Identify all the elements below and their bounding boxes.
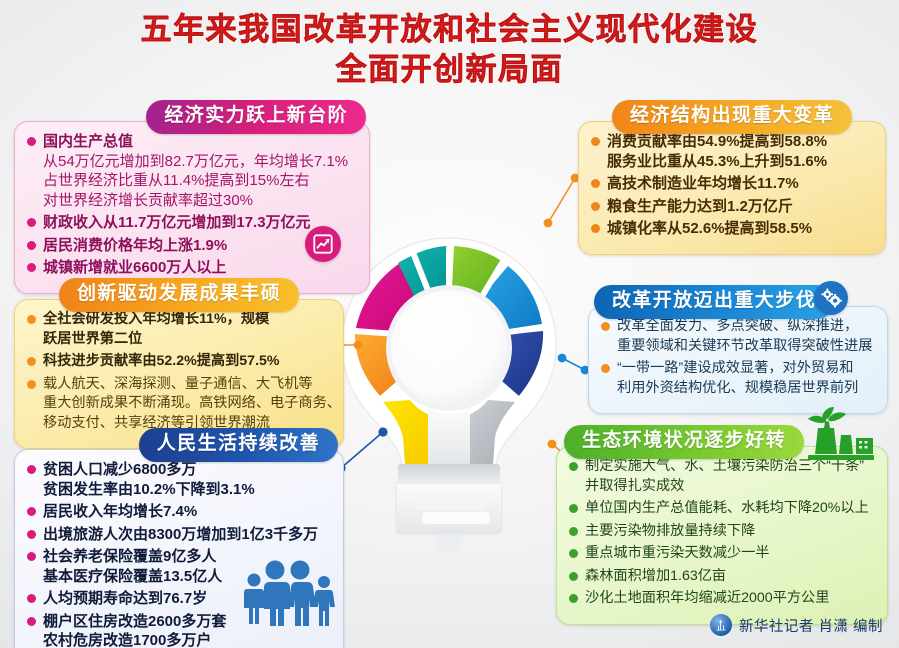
bullet-dot — [591, 179, 600, 188]
bullet-dot — [27, 617, 36, 626]
bulb-inner-core — [391, 290, 507, 406]
list-line: 农村危房改造1700多万户 — [43, 631, 329, 648]
list-line: 财政收入从11.7万亿元增加到17.3万亿元 — [43, 213, 355, 233]
family-glyph — [240, 558, 340, 626]
list-line: 国内生产总值 — [43, 132, 355, 152]
panel-ecology-list: 制定实施大气、水、土壤污染防治三个“十条” 并取得扎实成效 单位国内生产总值能耗… — [569, 457, 873, 609]
list-line: 跃居世界第二位 — [43, 330, 329, 350]
list-line: 重大创新成果不断涌现。高铁网络、电子商务、 — [43, 394, 329, 414]
list-item: 贫困人口减少6800多万 贫困发生率由10.2%下降到3.1% — [27, 460, 329, 499]
list-line: 全社会研发投入年均增长11%，规模 — [43, 310, 329, 330]
list-line: 城镇化率从52.6%提高到58.5% — [607, 219, 871, 239]
trending-chart-icon — [305, 226, 341, 262]
bullet-dot — [27, 594, 36, 603]
list-item: “一带一路”建设成效显著，对外贸易和 利用外资结构优化、规模稳居世界前列 — [601, 359, 873, 398]
bullet-dot — [27, 241, 36, 250]
list-line: 利用外资结构优化、规模稳居世界前列 — [617, 379, 873, 399]
list-item: 单位国内生产总值能耗、水耗均下降20%以上 — [569, 499, 873, 519]
page-title: 五年来我国改革开放和社会主义现代化建设 全面开创新局面 — [0, 10, 899, 90]
bullet-dot — [27, 552, 36, 561]
list-line: 居民收入年均增长7.4% — [43, 502, 329, 522]
list-line: 单位国内生产总值能耗、水耗均下降20%以上 — [585, 499, 873, 519]
panel-reform-title: 改革开放迈出重大步伐 — [594, 285, 834, 319]
list-item: 主要污染物排放量持续下降 — [569, 522, 873, 542]
panel-economy-structure: 经济结构出现重大变革 消费贡献率由54.9%提高到58.8% 服务业比重从45.… — [578, 100, 886, 255]
footer-text: 新华社记者 肖潇 编制 — [739, 615, 883, 636]
list-line: “一带一路”建设成效显著，对外贸易和 — [617, 359, 873, 379]
list-line: 从54万亿元增加到82.7万亿元，年均增长7.1% — [43, 152, 355, 172]
bullet-dot — [569, 462, 578, 471]
infographic-canvas: 五年来我国改革开放和社会主义现代化建设 全面开创新局面 — [0, 0, 899, 648]
list-item: 全社会研发投入年均增长11%，规模 跃居世界第二位 — [27, 310, 329, 349]
list-item: 高技术制造业年均增长11.7% — [591, 174, 871, 194]
panel-peoples-life-header: 人民生活持续改善 — [14, 428, 344, 462]
list-line: 重要领域和关键环节改革取得突破性进展 — [617, 337, 873, 357]
bullet-dot — [27, 507, 36, 516]
list-line: 贫困发生率由10.2%下降到3.1% — [43, 480, 329, 500]
list-line: 森林面积增加1.63亿亩 — [585, 567, 873, 587]
bullet-dot — [569, 549, 578, 558]
list-item: 从54万亿元增加到82.7万亿元，年均增长7.1% 占世界经济比重从11.4%提… — [27, 152, 355, 211]
bullet-dot — [601, 322, 610, 331]
bulb-base-band-2 — [422, 512, 490, 524]
xinhua-glyph — [714, 618, 728, 632]
list-line: 对世界经济增长贡献率超过30% — [43, 191, 355, 211]
list-item: 改革全面发力、多点突破、纵深推进， 重要领域和关键环节改革取得突破性进展 — [601, 317, 873, 356]
panel-economy-strength-list: 国内生产总值 从54万亿元增加到82.7万亿元，年均增长7.1% 占世界经济比重… — [27, 132, 355, 278]
bullet-dot — [569, 594, 578, 603]
bullet-dot — [27, 380, 36, 389]
panel-reform-list: 改革全面发力、多点突破、纵深推进， 重要领域和关键环节改革取得突破性进展 “一带… — [601, 317, 873, 398]
bullet-dot — [591, 224, 600, 233]
factory-glyph — [800, 406, 878, 462]
list-line: 载人航天、深海探测、量子通信、大飞机等 — [43, 375, 329, 395]
title-line-1: 五年来我国改革开放和社会主义现代化建设 — [0, 10, 899, 50]
list-line: 贫困人口减少6800多万 — [43, 460, 329, 480]
list-line: 消费贡献率由54.9%提高到58.8% — [607, 132, 871, 152]
gear-glyph — [820, 287, 842, 309]
bullet-dot — [569, 504, 578, 513]
bullet-dot — [27, 137, 36, 146]
panel-innovation-body: 全社会研发投入年均增长11%，规模 跃居世界第二位 科技进步贡献率由52.2%提… — [14, 299, 344, 449]
list-line: 重点城市重污染天数减少一半 — [585, 544, 873, 564]
list-item: 财政收入从11.7万亿元增加到17.3万亿元 — [27, 213, 355, 233]
list-line: 城镇新增就业6600万人以上 — [43, 258, 355, 278]
panel-ecology-body: 制定实施大气、水、土壤污染防治三个“十条” 并取得扎实成效 单位国内生产总值能耗… — [556, 446, 888, 625]
bullet-dot — [591, 202, 600, 211]
panel-innovation-header: 创新驱动发展成果丰硕 — [14, 278, 344, 312]
list-item: 粮食生产能力达到1.2万亿斤 — [591, 197, 871, 217]
eco-factory-icon — [800, 406, 878, 462]
list-item: 沙化土地面积年均缩减近2000平方公里 — [569, 589, 873, 609]
bullet-dot — [591, 137, 600, 146]
list-item: 制定实施大气、水、土壤污染防治三个“十条” 并取得扎实成效 — [569, 457, 873, 496]
panel-innovation: 创新驱动发展成果丰硕 全社会研发投入年均增长11%，规模 跃居世界第二位 科技进… — [14, 278, 344, 449]
list-item: 出境旅游人次由8300万增加到1亿3千多万 — [27, 525, 329, 545]
bulb-base-tip — [434, 534, 464, 553]
panel-economy-strength: 经济实力跃上新台阶 国内生产总值 从54万亿元增加到82.7万亿元，年均增长7.… — [14, 100, 370, 294]
list-line: 粮食生产能力达到1.2万亿斤 — [607, 197, 871, 217]
list-line: 沙化土地面积年均缩减近2000平方公里 — [585, 589, 873, 609]
panel-economy-structure-body: 消费贡献率由54.9%提高到58.8% 服务业比重从45.3%上升到51.6% … — [578, 121, 886, 255]
bullet-dot — [27, 465, 36, 474]
list-line: 并取得扎实成效 — [585, 477, 873, 497]
panel-innovation-list: 全社会研发投入年均增长11%，规模 跃居世界第二位 科技进步贡献率由52.2%提… — [27, 310, 329, 433]
bullet-dot — [27, 315, 36, 324]
panel-economy-structure-list: 消费贡献率由54.9%提高到58.8% 服务业比重从45.3%上升到51.6% … — [591, 132, 871, 239]
list-line: 服务业比重从45.3%上升到51.6% — [607, 152, 871, 172]
bulb-base-band-1 — [416, 496, 484, 510]
xinhua-logo-icon — [710, 614, 732, 636]
panel-economy-strength-title: 经济实力跃上新台阶 — [146, 100, 366, 134]
list-item: 城镇化率从52.6%提高到58.5% — [591, 219, 871, 239]
panel-economy-strength-body: 国内生产总值 从54万亿元增加到82.7万亿元，年均增长7.1% 占世界经济比重… — [14, 121, 370, 294]
list-item: 消费贡献率由54.9%提高到58.8% 服务业比重从45.3%上升到51.6% — [591, 132, 871, 171]
list-item: 国内生产总值 — [27, 132, 355, 152]
list-item: 居民收入年均增长7.4% — [27, 502, 329, 522]
list-line: 占世界经济比重从11.4%提高到15%左右 — [43, 171, 355, 191]
list-line: 改革全面发力、多点突破、纵深推进， — [617, 317, 873, 337]
list-line: 高技术制造业年均增长11.7% — [607, 174, 871, 194]
chart-glyph — [312, 233, 334, 255]
panel-economy-strength-header: 经济实力跃上新台阶 — [14, 100, 370, 134]
list-item: 城镇新增就业6600万人以上 — [27, 258, 355, 278]
panel-reform-body: 改革全面发力、多点突破、纵深推进， 重要领域和关键环节改革取得突破性进展 “一带… — [588, 306, 888, 414]
gears-icon — [814, 281, 848, 315]
list-item: 载人航天、深海探测、量子通信、大飞机等 重大创新成果不断涌现。高铁网络、电子商务… — [27, 375, 329, 434]
title-line-2: 全面开创新局面 — [0, 50, 899, 90]
bullet-dot — [27, 218, 36, 227]
list-item: 森林面积增加1.63亿亩 — [569, 567, 873, 587]
bullet-dot — [601, 364, 610, 373]
list-line: 科技进步贡献率由52.2%提高到57.5% — [43, 352, 329, 372]
panel-ecology-title: 生态环境状况逐步好转 — [564, 425, 804, 459]
panel-economy-structure-title: 经济结构出现重大变革 — [612, 100, 852, 134]
bullet-dot — [569, 527, 578, 536]
list-line: 出境旅游人次由8300万增加到1亿3千多万 — [43, 525, 329, 545]
panel-peoples-life-title: 人民生活持续改善 — [139, 428, 338, 462]
bullet-dot — [27, 357, 36, 366]
bullet-dot — [27, 263, 36, 272]
bullet-dot — [27, 530, 36, 539]
family-icon — [240, 558, 340, 626]
panel-economy-structure-header: 经济结构出现重大变革 — [578, 100, 886, 134]
list-item: 重点城市重污染天数减少一半 — [569, 544, 873, 564]
list-line: 主要污染物排放量持续下降 — [585, 522, 873, 542]
bulb-neck — [428, 408, 470, 466]
footer-credit: 新华社记者 肖潇 编制 — [710, 614, 883, 636]
list-item: 科技进步贡献率由52.2%提高到57.5% — [27, 352, 329, 372]
bulb-base-top — [398, 464, 500, 484]
bullet-dot — [569, 572, 578, 581]
panel-innovation-title: 创新驱动发展成果丰硕 — [59, 278, 299, 312]
